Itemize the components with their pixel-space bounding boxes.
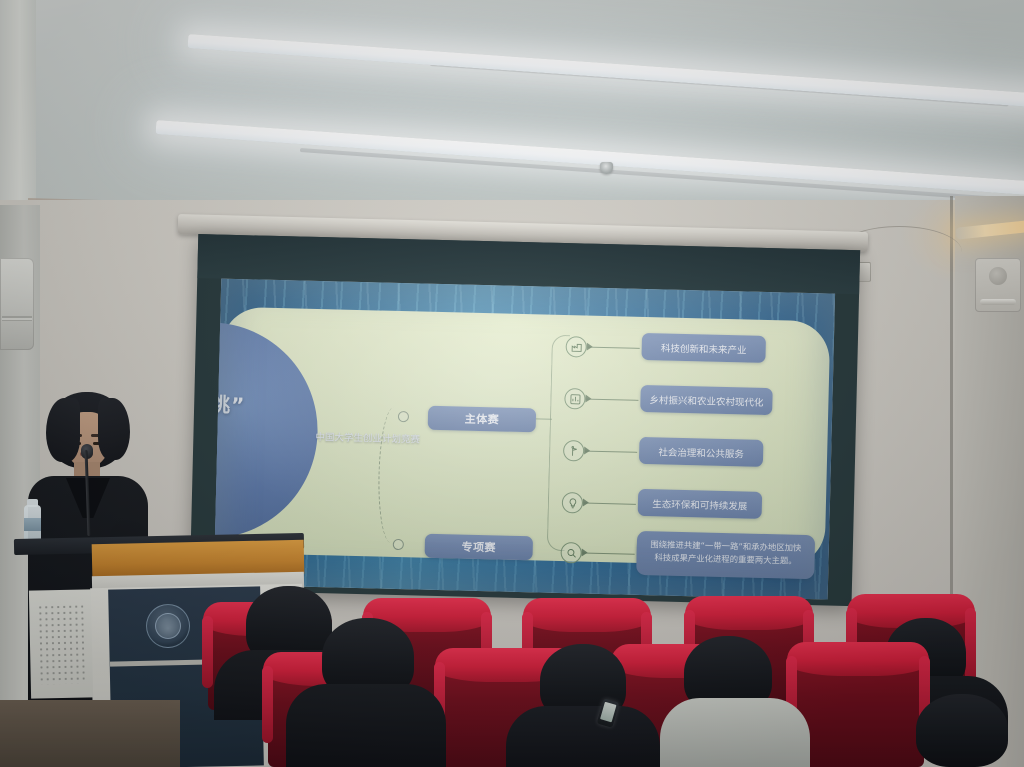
wall-air-conditioner [0,258,34,350]
slide-branch-label-3: 生态环保和可持续发展 [638,489,763,519]
slide-content-card: “小挑” 中国大学生创业计划竞赛 主体赛 专项赛 [217,307,831,568]
presenter-hair-right [98,398,130,460]
vent-slot [980,299,1016,305]
floor [0,700,180,767]
ceiling [0,0,1024,232]
magnifier-icon [560,542,582,564]
slide-branch-label-2: 社会治理和公共服务 [639,437,764,467]
slide-dashed-connector [377,407,408,544]
branch-line [584,503,636,505]
branch-line [583,553,635,555]
bar-chart-icon [564,388,586,410]
lecture-hall-photo: “小挑” 中国大学生创业计划竞赛 主体赛 专项赛 [0,0,1024,767]
slide-bracket-stub [536,418,552,420]
slide-branch-label-0: 科技创新和未来产业 [641,333,766,363]
slide-background: “小挑” 中国大学生创业计划竞赛 主体赛 专项赛 [214,279,835,600]
branch-arrow-icon [583,499,589,507]
podium-speaker-left [29,589,93,698]
audience-shoulders [286,684,446,767]
ceiling-air-vent [975,258,1021,312]
projection-screen-surface: “小挑” 中国大学生创业计划竞赛 主体赛 专项赛 [214,279,835,600]
phone-screen [600,702,616,723]
slide-note-box: 围绕推进共建“一带一路”和承办地区加快科技成果产业化进程的重要两大主题。 [636,531,815,579]
emblem-inner-ring [155,613,181,639]
slide-node-dot-special [393,539,404,550]
presenter-hair-left [46,398,80,462]
slide-hero-circle: “小挑” [214,320,320,541]
university-emblem [146,604,190,648]
person-flag-icon [563,440,585,462]
branch-line [588,347,640,349]
branch-arrow-icon [585,395,591,403]
lightbulb-icon [562,492,584,514]
slide-node-special: 专项赛 [425,534,534,561]
auditorium-seat [792,650,924,767]
factory-icon [565,336,587,358]
audience-head [916,694,1008,767]
branch-arrow-icon [584,447,590,455]
vent-knob [989,267,1007,285]
branch-arrow-icon [582,549,588,557]
slide-node-main: 主体赛 [428,406,537,433]
branch-arrow-icon [587,343,593,351]
branch-line [586,399,638,401]
sprinkler-head-icon [600,162,613,174]
audience-shoulders [506,706,660,767]
audience-shoulders [660,698,810,767]
slide-branch-label-1: 乡村振兴和农业农村现代化 [640,385,773,415]
slide-hero-title: “小挑” [214,386,319,420]
